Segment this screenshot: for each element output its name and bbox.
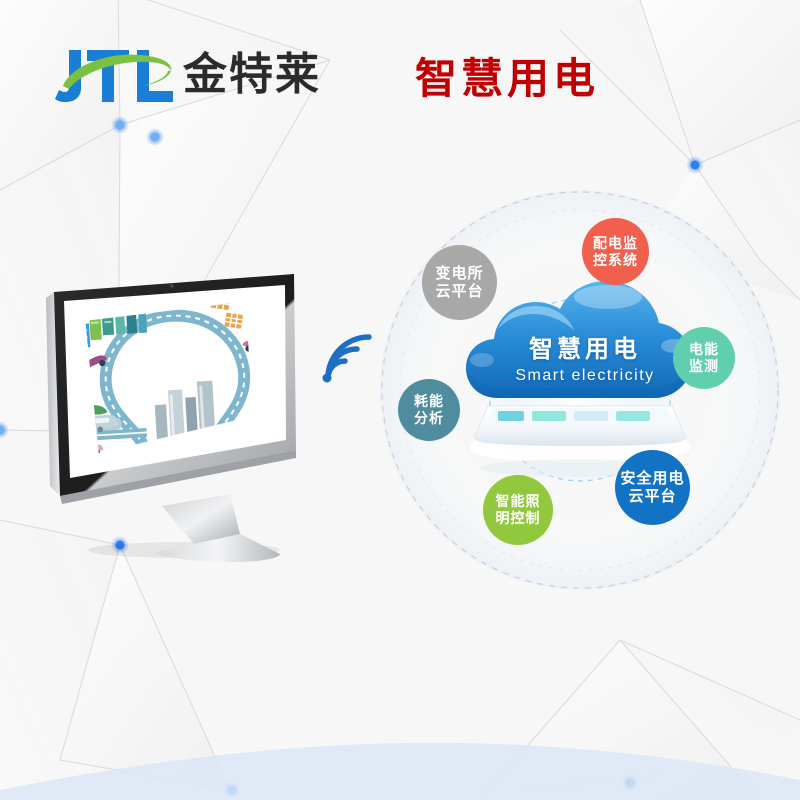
brand-logo: 金特莱 [55, 44, 355, 110]
bubble-label: 配电监 控系统 [593, 235, 638, 268]
bubble-label: 智能照 明控制 [496, 493, 541, 526]
bubble-label: 变电所 云平台 [435, 265, 483, 300]
wifi-signal-icon [318, 332, 374, 388]
header: 金特莱 智慧用电 [0, 0, 800, 140]
bubble-label: 电能 监测 [689, 341, 719, 374]
jtl-logo-icon [55, 44, 180, 108]
bubble-power-distribution-monitoring[interactable]: 配电监 控系统 [582, 218, 649, 285]
brand-name: 金特莱 [183, 46, 321, 104]
poster-canvas: 金特莱 智慧用电 [0, 0, 800, 800]
bubble-smart-lighting-control[interactable]: 智能照 明控制 [483, 475, 553, 545]
bubble-substation-cloud-platform[interactable]: 变电所 云平台 [422, 245, 497, 320]
desktop-monitor-illustration [44, 272, 334, 562]
bubble-consumption-analysis[interactable]: 耗能 分析 [398, 379, 460, 441]
page-title: 智慧用电 [415, 52, 599, 106]
smart-electricity-diagram: 智慧用电 Smart electricity 变电所 云平台 配电监 控系统 电… [370, 180, 790, 600]
bubble-safe-electricity-cloud-platform[interactable]: 安全用电 云平台 [615, 450, 690, 525]
bubble-label: 耗能 分析 [414, 393, 444, 426]
bubble-label: 安全用电 云平台 [620, 470, 684, 505]
bubble-energy-monitoring[interactable]: 电能 监测 [673, 327, 735, 389]
